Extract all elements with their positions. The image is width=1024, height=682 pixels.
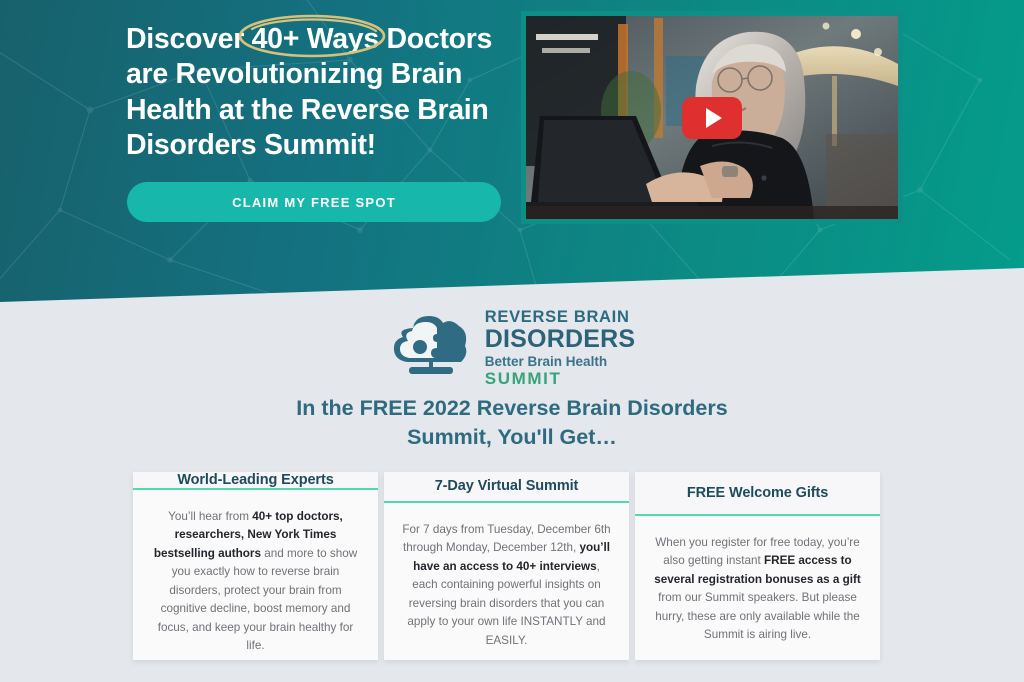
benefit-cards: World-Leading Experts You’ll hear from 4…	[133, 472, 880, 660]
card-header: World-Leading Experts	[133, 472, 378, 490]
card-title: FREE Welcome Gifts	[687, 485, 828, 501]
hero-headline: Discover 40+ Ways Doctors are Revolution…	[126, 22, 516, 164]
section-heading-line-2: Summit, You'll Get…	[0, 423, 1024, 452]
card-title: 7-Day Virtual Summit	[435, 478, 579, 494]
card-body: When you register for free today, you’re…	[635, 516, 880, 660]
benefit-card: World-Leading Experts You’ll hear from 4…	[133, 472, 378, 660]
logo-line-2: DISORDERS	[485, 327, 635, 352]
headline-line-1-post: Doctors	[379, 23, 492, 55]
headline-line-3: Health at the Reverse Brain	[126, 93, 516, 128]
logo-line-4: SUMMIT	[485, 370, 635, 387]
claim-free-spot-button[interactable]: CLAIM MY FREE SPOT	[127, 182, 501, 222]
logo-line-1: REVERSE BRAIN	[485, 309, 635, 326]
headline-line-2: are Revolutionizing Brain	[126, 57, 516, 92]
card-title: World-Leading Experts	[177, 472, 333, 488]
brain-cloud-puzzle-icon	[389, 310, 473, 384]
headline-highlight-text: 40+ Ways	[252, 23, 379, 55]
headline-line-1: Discover 40+ Ways Doctors	[126, 22, 516, 57]
section-heading: In the FREE 2022 Reverse Brain Disorders…	[0, 394, 1024, 451]
hero-section: Discover 40+ Ways Doctors are Revolution…	[0, 0, 1024, 302]
logo-wordmark: REVERSE BRAIN DISORDERS Better Brain Hea…	[485, 307, 635, 387]
landing-page: Discover 40+ Ways Doctors are Revolution…	[0, 0, 1024, 682]
card-body: You’ll hear from 40+ top doctors, resear…	[133, 490, 378, 666]
video-thumbnail[interactable]	[526, 16, 898, 219]
headline-line-4: Disorders Summit!	[126, 128, 516, 163]
headline-highlight-wrap: 40+ Ways	[252, 22, 379, 57]
benefit-card: FREE Welcome Gifts When you register for…	[635, 472, 880, 660]
youtube-play-button[interactable]	[682, 97, 742, 139]
headline-line-1-pre: Discover	[126, 23, 252, 55]
card-header: 7-Day Virtual Summit	[384, 472, 629, 503]
play-triangle-icon	[706, 108, 722, 128]
benefit-card: 7-Day Virtual Summit For 7 days from Tue…	[384, 472, 629, 660]
card-header: FREE Welcome Gifts	[635, 472, 880, 516]
section-heading-line-1: In the FREE 2022 Reverse Brain Disorders	[0, 394, 1024, 423]
card-body: For 7 days from Tuesday, December 6th th…	[384, 503, 629, 660]
logo-tagline: Better Brain Health	[485, 355, 635, 369]
video-player[interactable]	[521, 11, 903, 224]
summit-logo: REVERSE BRAIN DISORDERS Better Brain Hea…	[0, 307, 1024, 387]
